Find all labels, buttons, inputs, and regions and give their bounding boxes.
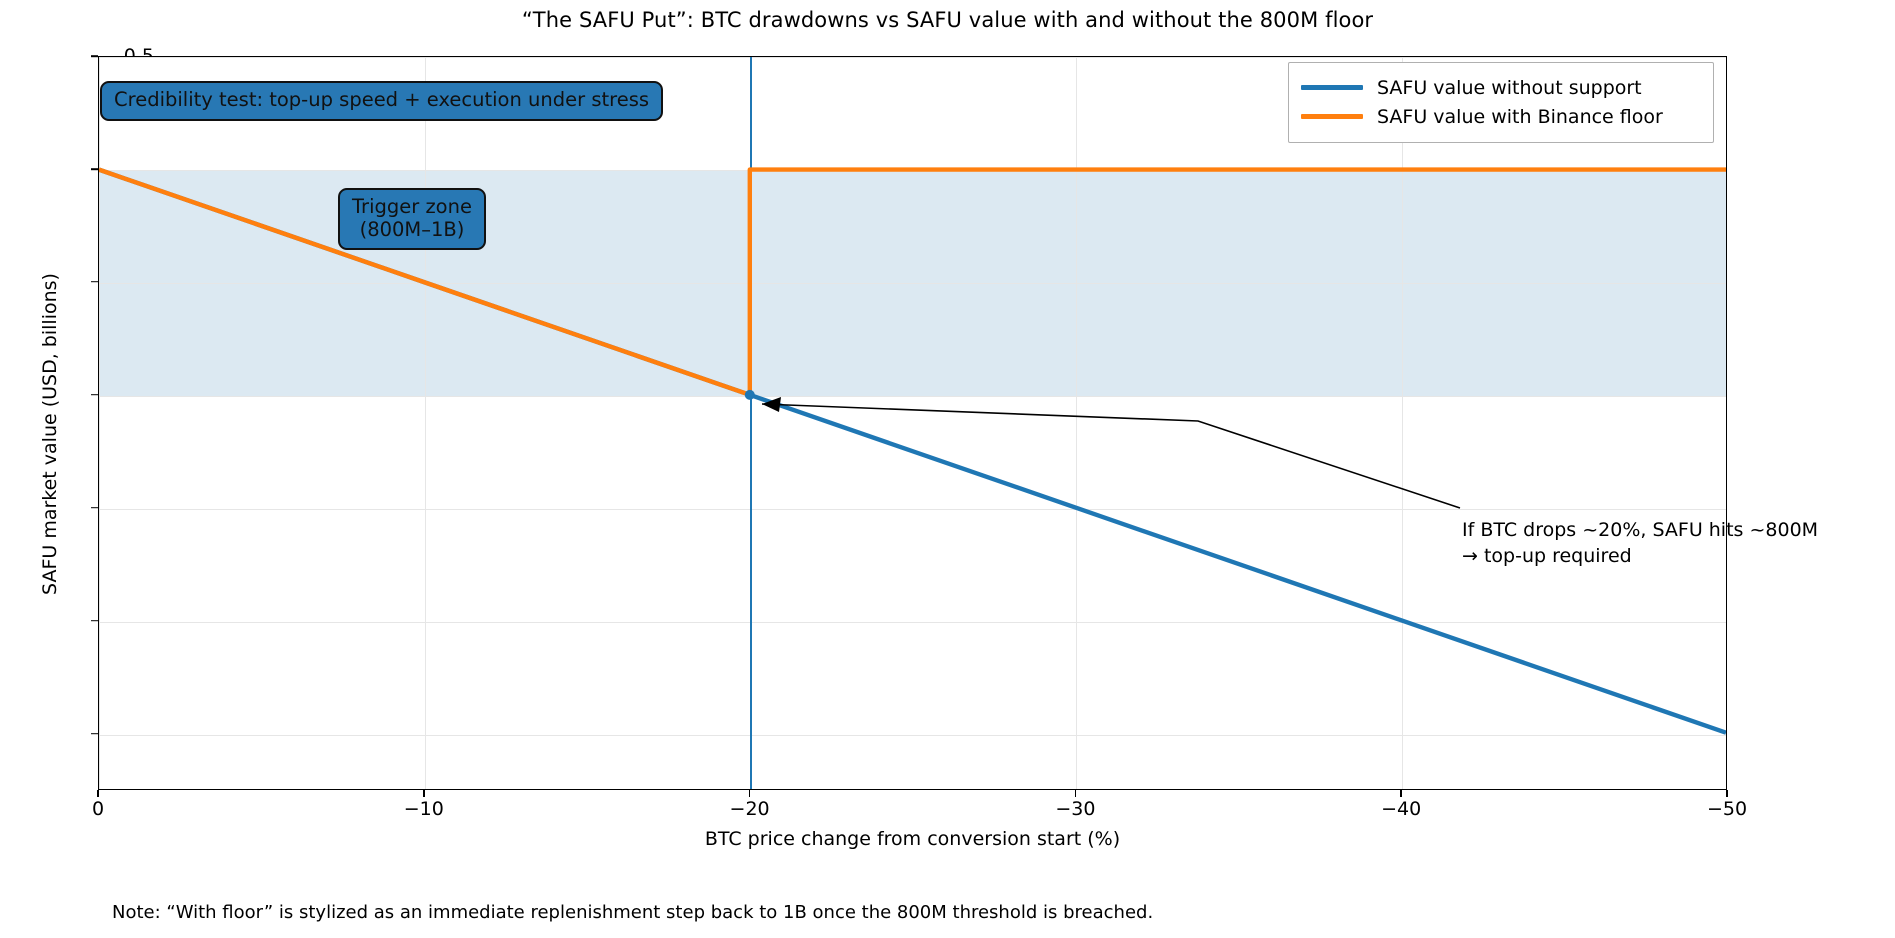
x-tick-mark [749, 790, 751, 797]
annotation-topup-text: If BTC drops ~20%, SAFU hits ~800M → top… [1462, 518, 1892, 569]
x-tick-mark [1400, 790, 1402, 797]
legend-item-without-support: SAFU value without support [1301, 73, 1701, 102]
callout-trigger-zone: Trigger zone (800M–1B) [338, 188, 486, 250]
chart-title: “The SAFU Put”: BTC drawdowns vs SAFU va… [0, 8, 1895, 32]
y-tick-mark [91, 55, 98, 57]
marker-trigger-point [745, 390, 755, 400]
x-tick-mark [1726, 790, 1728, 797]
y-tick-mark [91, 281, 98, 283]
callout-credibility-test: Credibility test: top-up speed + executi… [100, 81, 663, 121]
legend-item-with-floor: SAFU value with Binance floor [1301, 102, 1701, 131]
legend-swatch-without-support [1301, 85, 1363, 90]
x-tick-label: −30 [1055, 798, 1095, 820]
y-tick-mark [91, 394, 98, 396]
y-tick-mark [91, 507, 98, 509]
x-axis-label: BTC price change from conversion start (… [98, 828, 1727, 850]
y-tick-mark [91, 733, 98, 735]
y-axis-label: SAFU market value (USD, billions) [39, 84, 61, 784]
x-tick-label: 0 [92, 798, 104, 820]
x-tick-mark [97, 790, 99, 797]
footnote: Note: “With floor” is stylized as an imm… [112, 902, 1153, 923]
legend: SAFU value without support SAFU value wi… [1288, 62, 1714, 143]
y-tick-mark [91, 168, 98, 170]
chart-figure: “The SAFU Put”: BTC drawdowns vs SAFU va… [0, 0, 1895, 938]
x-tick-label: −40 [1381, 798, 1421, 820]
x-tick-label: −50 [1707, 798, 1747, 820]
x-tick-label: −10 [404, 798, 444, 820]
x-tick-mark [423, 790, 425, 797]
y-tick-mark [91, 620, 98, 622]
legend-label-without-support: SAFU value without support [1377, 77, 1642, 99]
plot-inner [99, 57, 1726, 789]
legend-swatch-with-floor [1301, 114, 1363, 119]
legend-label-with-floor: SAFU value with Binance floor [1377, 106, 1663, 128]
x-tick-label: −20 [730, 798, 770, 820]
series-layer [99, 57, 1726, 789]
plot-area [98, 56, 1727, 790]
x-tick-mark [1075, 790, 1077, 797]
